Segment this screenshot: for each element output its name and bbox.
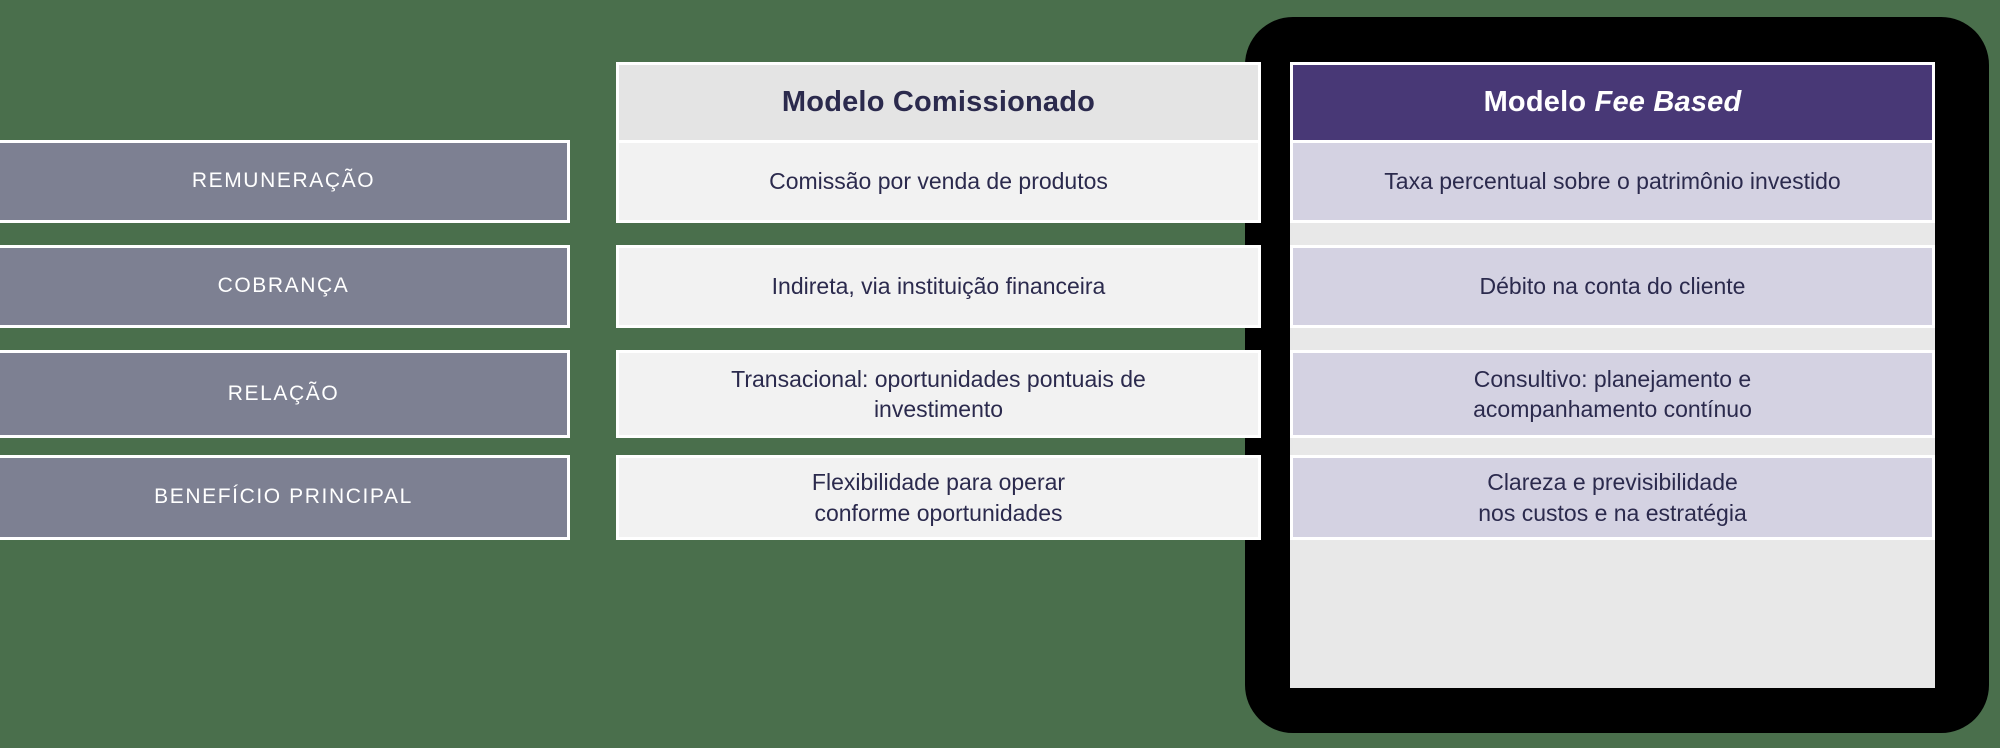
cell-fee-based-remuneracao: Taxa percentual sobre o patrimônio inves… [1290,140,1935,223]
header-fee-based-prefix: Modelo [1484,86,1595,118]
row-label-cobranca: COBRANÇA [0,245,570,328]
cell-text: Comissão por venda de produtos [747,166,1130,196]
cell-text: Débito na conta do cliente [1458,271,1768,301]
cell-text: Taxa percentual sobre o patrimônio inves… [1362,166,1862,196]
cell-commissioned-beneficio-principal: Flexibilidade para operar conforme oport… [616,455,1261,540]
cell-fee-based-relacao: Consultivo: planejamento e acompanhament… [1290,350,1935,438]
row-label-text: BENEFÍCIO PRINCIPAL [138,484,429,510]
header-fee-based: Modelo Fee Based [1290,62,1935,143]
row-label-remuneracao: REMUNERAÇÃO [0,140,570,223]
row-label-text: RELAÇÃO [212,381,356,407]
cell-text: Flexibilidade para operar conforme oport… [790,467,1087,528]
cell-text: Clareza e previsibilidade nos custos e n… [1456,467,1769,528]
header-fee-based-emphasis: Fee Based [1595,86,1742,118]
header-commissioned: Modelo Comissionado [616,62,1261,143]
cell-fee-based-cobranca: Débito na conta do cliente [1290,245,1935,328]
cell-text: Transacional: oportunidades pontuais de … [709,364,1169,425]
cell-fee-based-beneficio-principal: Clareza e previsibilidade nos custos e n… [1290,455,1935,540]
header-fee-based-label: Modelo Fee Based [1484,86,1742,119]
row-label-text: REMUNERAÇÃO [176,168,391,194]
cell-text: Indireta, via instituição financeira [750,271,1128,301]
row-label-text: COBRANÇA [202,273,366,299]
cell-commissioned-relacao: Transacional: oportunidades pontuais de … [616,350,1261,438]
header-commissioned-label: Modelo Comissionado [782,86,1095,119]
comparison-table-canvas: Modelo Comissionado Modelo Fee Based REM… [0,0,2000,748]
cell-commissioned-cobranca: Indireta, via instituição financeira [616,245,1261,328]
row-label-relacao: RELAÇÃO [0,350,570,438]
row-label-beneficio-principal: BENEFÍCIO PRINCIPAL [0,455,570,540]
cell-commissioned-remuneracao: Comissão por venda de produtos [616,140,1261,223]
cell-text: Consultivo: planejamento e acompanhament… [1373,364,1853,425]
